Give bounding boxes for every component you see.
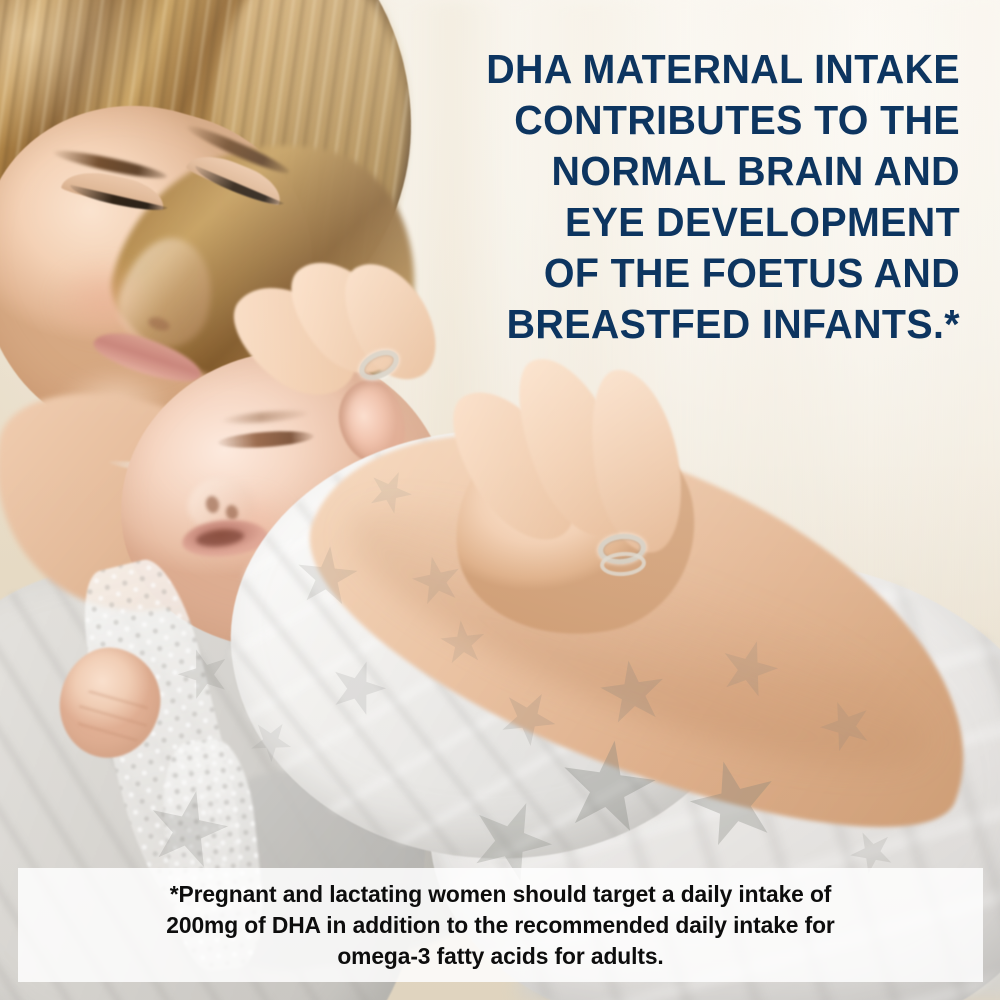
footnote-band: *Pregnant and lactating women should tar…	[18, 868, 983, 982]
promo-poster: DHA MATERNAL INTAKE CONTRIBUTES TO THE N…	[0, 0, 1000, 1000]
footnote-line-3: omega-3 fatty acids for adults.	[62, 941, 940, 972]
headline-line-4: EYE DEVELOPMENT	[384, 197, 960, 248]
headline: DHA MATERNAL INTAKE CONTRIBUTES TO THE N…	[384, 44, 960, 350]
headline-line-5: OF THE FOETUS AND	[384, 248, 960, 299]
headline-line-6: BREASTFED INFANTS.*	[384, 299, 960, 350]
footnote-line-1: *Pregnant and lactating women should tar…	[62, 879, 940, 910]
headline-line-2: CONTRIBUTES TO THE	[384, 95, 960, 146]
footnote-text: *Pregnant and lactating women should tar…	[62, 879, 940, 972]
footnote-line-2: 200mg of DHA in addition to the recommen…	[62, 910, 940, 941]
headline-line-1: DHA MATERNAL INTAKE	[384, 44, 960, 95]
headline-line-3: NORMAL BRAIN AND	[384, 146, 960, 197]
